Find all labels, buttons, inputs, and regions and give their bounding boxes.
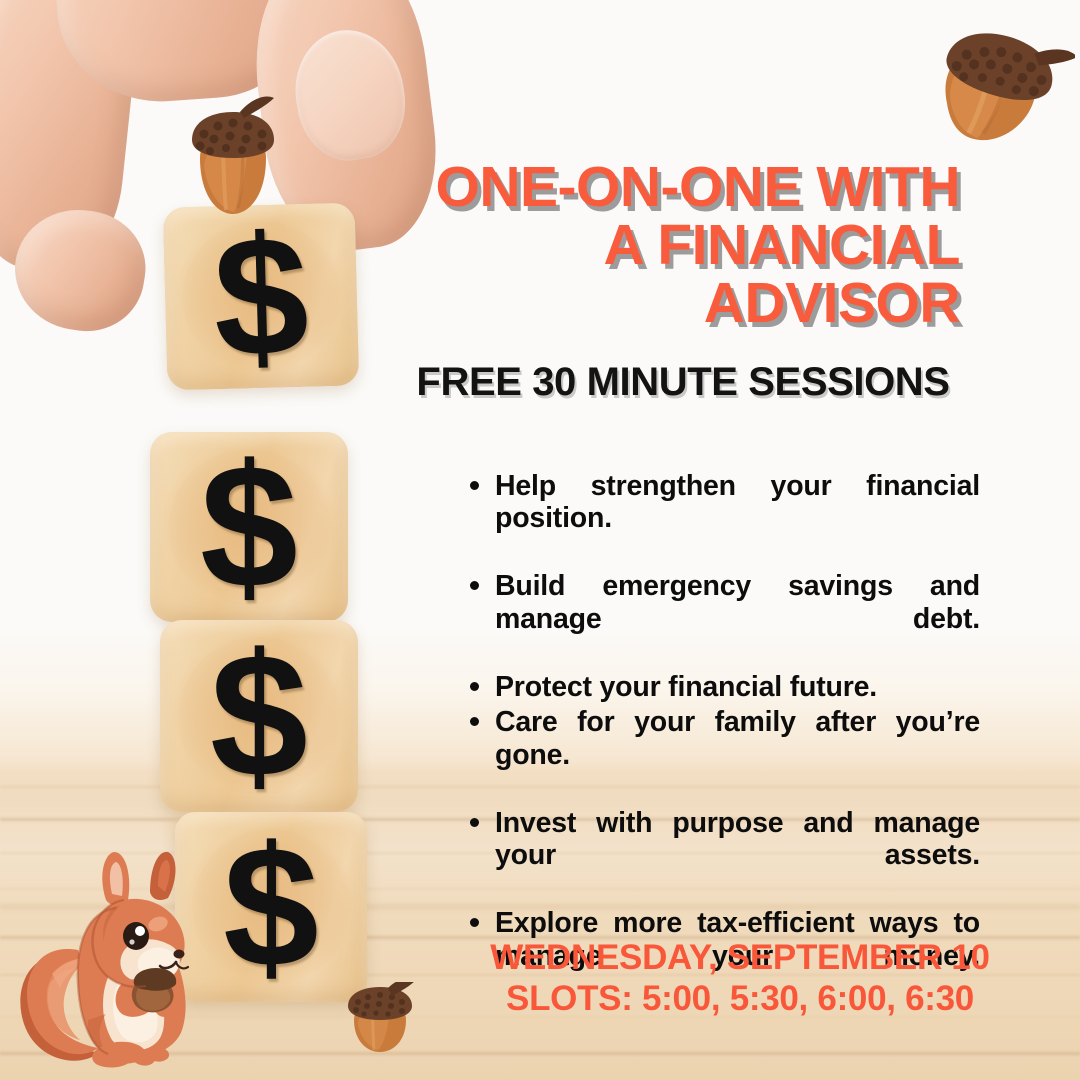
squirrel-icon bbox=[8, 838, 228, 1074]
list-item-text: Invest with purpose and manage your asse… bbox=[495, 807, 980, 871]
poster-canvas: $ $ $ $ bbox=[0, 0, 1080, 1080]
page-subtitle: FREE 30 MINUTE SESSIONS bbox=[386, 360, 980, 405]
acorn-icon bbox=[910, 20, 1075, 155]
event-details: WEDNESDAY, SEPTEMBER 10 SLOTS: 5:00, 5:3… bbox=[440, 938, 1040, 1019]
list-item: Invest with purpose and manage your asse… bbox=[462, 807, 980, 904]
dollar-sign-icon: $ bbox=[160, 628, 358, 804]
wooden-block-third: $ bbox=[160, 620, 358, 812]
list-item-text: Build emergency savings and manage debt. bbox=[495, 570, 980, 634]
list-item-text: Protect your financial future. bbox=[495, 671, 877, 703]
event-slots: SLOTS: 5:00, 5:30, 6:00, 6:30 bbox=[440, 979, 1040, 1020]
headline-line-3: ADVISOR bbox=[370, 274, 960, 332]
wooden-block-second: $ bbox=[150, 432, 348, 622]
dollar-sign-icon: $ bbox=[150, 439, 348, 615]
list-item: Protect your financial future. bbox=[462, 671, 980, 703]
headline-line-1: ONE-ON-ONE WITH bbox=[370, 158, 960, 216]
wooden-block-top: $ bbox=[163, 203, 360, 391]
acorn-icon bbox=[338, 982, 422, 1054]
page-title: ONE-ON-ONE WITH A FINANCIAL ADVISOR bbox=[370, 158, 960, 332]
list-item: Build emergency savings and manage debt. bbox=[462, 570, 980, 667]
list-item-text: Help strengthen your financial position. bbox=[495, 470, 980, 534]
event-date: WEDNESDAY, SEPTEMBER 10 bbox=[440, 938, 1040, 979]
dollar-sign-icon: $ bbox=[163, 209, 359, 384]
list-item: Care for your family after you’re gone. bbox=[462, 706, 980, 803]
benefits-list: Help strengthen your financial position.… bbox=[462, 470, 980, 1008]
list-item-text: Care for your family after you’re gone. bbox=[495, 706, 980, 770]
list-item: Help strengthen your financial position. bbox=[462, 470, 980, 567]
headline-line-2: A FINANCIAL bbox=[370, 216, 960, 274]
acorn-icon bbox=[178, 96, 288, 221]
